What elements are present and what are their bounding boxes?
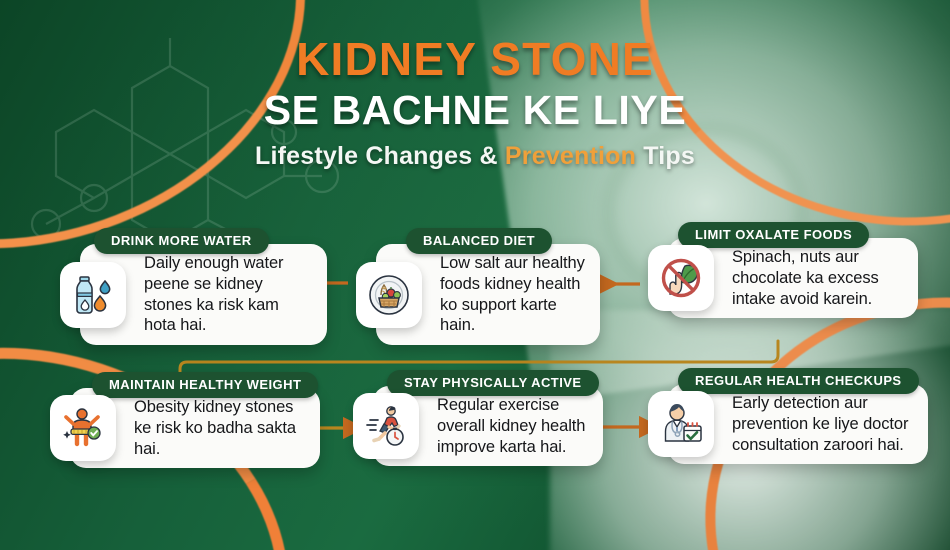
doctor-calendar-check-icon (648, 391, 714, 457)
title-line-2: SE BACHNE KE LIYE (0, 89, 950, 132)
no-spinach-prohibited-icon (648, 245, 714, 311)
card-heading-stay-physically-active: STAY PHYSICALLY ACTIVE (387, 370, 599, 396)
card-description-stay-physically-active: Regular exercise overall kidney health i… (437, 395, 591, 457)
card-heading-balanced-diet: BALANCED DIET (406, 228, 552, 254)
runner-stopwatch-icon (353, 393, 419, 459)
card-body-limit-oxalate-foods: Spinach, nuts aur chocolate ka excess in… (668, 238, 918, 318)
card-heading-limit-oxalate-foods: LIMIT OXALATE FOODS (678, 222, 869, 248)
card-body-stay-physically-active: Regular exercise overall kidney health i… (373, 386, 603, 466)
title-block: KIDNEY STONE SE BACHNE KE LIYE Lifestyle… (0, 36, 950, 171)
tagline-highlight: Prevention (505, 142, 636, 170)
title-tagline: Lifestyle Changes & Prevention Tips (0, 142, 950, 171)
person-measuring-tape-icon (50, 395, 116, 461)
card-heading-regular-health-checkups: REGULAR HEALTH CHECKUPS (678, 368, 919, 394)
card-description-limit-oxalate-foods: Spinach, nuts aur chocolate ka excess in… (732, 247, 906, 309)
title-line-1: KIDNEY STONE (0, 36, 950, 83)
card-description-drink-more-water: Daily enough water peene se kidney stone… (144, 253, 315, 336)
card-body-drink-more-water: Daily enough water peene se kidney stone… (80, 244, 327, 345)
card-body-maintain-healthy-weight: Obesity kidney stones ke risk ko badha s… (70, 388, 320, 468)
card-heading-drink-more-water: DRINK MORE WATER (94, 228, 269, 254)
card-body-regular-health-checkups: Early detection aur prevention ke liye d… (668, 384, 928, 464)
card-description-maintain-healthy-weight: Obesity kidney stones ke risk ko badha s… (134, 397, 308, 459)
water-bottle-drop-icon (60, 262, 126, 328)
tagline-after: Tips (643, 142, 695, 170)
tagline-before: Lifestyle Changes & (255, 142, 498, 170)
card-heading-maintain-healthy-weight: MAINTAIN HEALTHY WEIGHT (92, 372, 318, 398)
card-description-balanced-diet: Low salt aur healthy foods kidney health… (440, 253, 588, 336)
card-body-balanced-diet: Low salt aur healthy foods kidney health… (376, 244, 600, 345)
infographic-canvas: KIDNEY STONE SE BACHNE KE LIYE Lifestyle… (0, 0, 950, 550)
card-description-regular-health-checkups: Early detection aur prevention ke liye d… (732, 393, 916, 455)
plate-fruit-basket-icon (356, 262, 422, 328)
